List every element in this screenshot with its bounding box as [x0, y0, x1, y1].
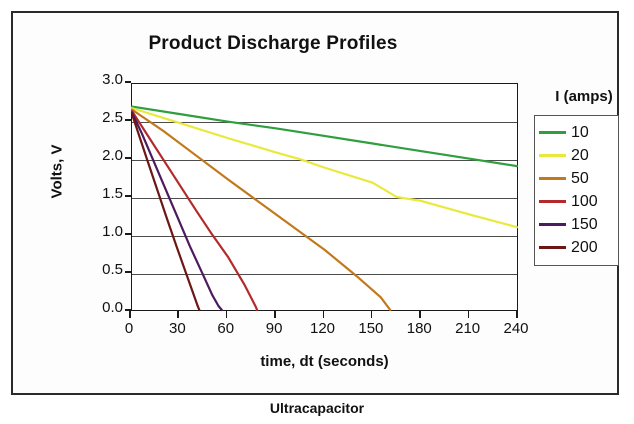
legend-label: 100 — [571, 194, 598, 210]
x-tick-mark — [129, 311, 131, 318]
x-tick-label: 120 — [299, 320, 347, 337]
series-line — [132, 107, 517, 167]
figure-caption: Ultracapacitor — [0, 400, 634, 416]
x-tick-mark — [177, 311, 179, 318]
legend-title: I (amps) — [532, 88, 634, 105]
x-axis-title: time, dt (seconds) — [131, 353, 518, 370]
series-line — [132, 114, 199, 310]
legend-swatch-icon — [539, 223, 566, 226]
legend-item[interactable]: 50 — [539, 167, 614, 190]
y-tick-label: 2.0 — [67, 147, 123, 164]
series-line — [132, 108, 517, 227]
x-tick-label: 90 — [250, 320, 298, 337]
y-tick-label: 0.0 — [67, 299, 123, 316]
y-tick-label: 3.0 — [67, 71, 123, 88]
legend-label: 20 — [571, 148, 589, 164]
legend-label: 150 — [571, 217, 598, 233]
legend-item[interactable]: 20 — [539, 144, 614, 167]
x-tick-mark — [419, 311, 421, 318]
x-tick-label: 210 — [444, 320, 492, 337]
x-tick-mark — [226, 311, 228, 318]
legend-item[interactable]: 100 — [539, 190, 614, 213]
legend-label: 50 — [571, 171, 589, 187]
x-tick-mark — [516, 311, 518, 318]
y-axis-title: Volts, V — [49, 112, 66, 232]
legend-swatch-icon — [539, 246, 566, 249]
chart-frame: Product Discharge Profiles Volts, V 0.00… — [11, 11, 619, 395]
y-tick-label: 1.0 — [67, 223, 123, 240]
plot-area — [131, 83, 518, 311]
legend-swatch-icon — [539, 200, 566, 203]
y-tick-label: 0.5 — [67, 261, 123, 278]
legend-swatch-icon — [539, 154, 566, 157]
chart-title: Product Discharge Profiles — [53, 33, 493, 55]
figure-root: Product Discharge Profiles Volts, V 0.00… — [0, 0, 634, 424]
legend-swatch-icon — [539, 131, 566, 134]
legend-label: 10 — [571, 125, 589, 141]
x-tick-label: 240 — [492, 320, 540, 337]
series-lines — [132, 84, 517, 310]
x-tick-mark — [323, 311, 325, 318]
y-tick-label: 2.5 — [67, 109, 123, 126]
x-tick-label: 180 — [395, 320, 443, 337]
x-tick-mark — [371, 311, 373, 318]
x-tick-mark — [468, 311, 470, 318]
x-tick-label: 0 — [105, 320, 153, 337]
legend-box: 102050100150200 — [534, 115, 619, 266]
legend-item[interactable]: 200 — [539, 236, 614, 259]
x-tick-label: 30 — [153, 320, 201, 337]
legend-swatch-icon — [539, 177, 566, 180]
legend-label: 200 — [571, 240, 598, 256]
legend-item[interactable]: 150 — [539, 213, 614, 236]
y-tick-label: 1.5 — [67, 185, 123, 202]
x-tick-label: 150 — [347, 320, 395, 337]
legend-item[interactable]: 10 — [539, 121, 614, 144]
x-tick-label: 60 — [202, 320, 250, 337]
x-tick-mark — [274, 311, 276, 318]
